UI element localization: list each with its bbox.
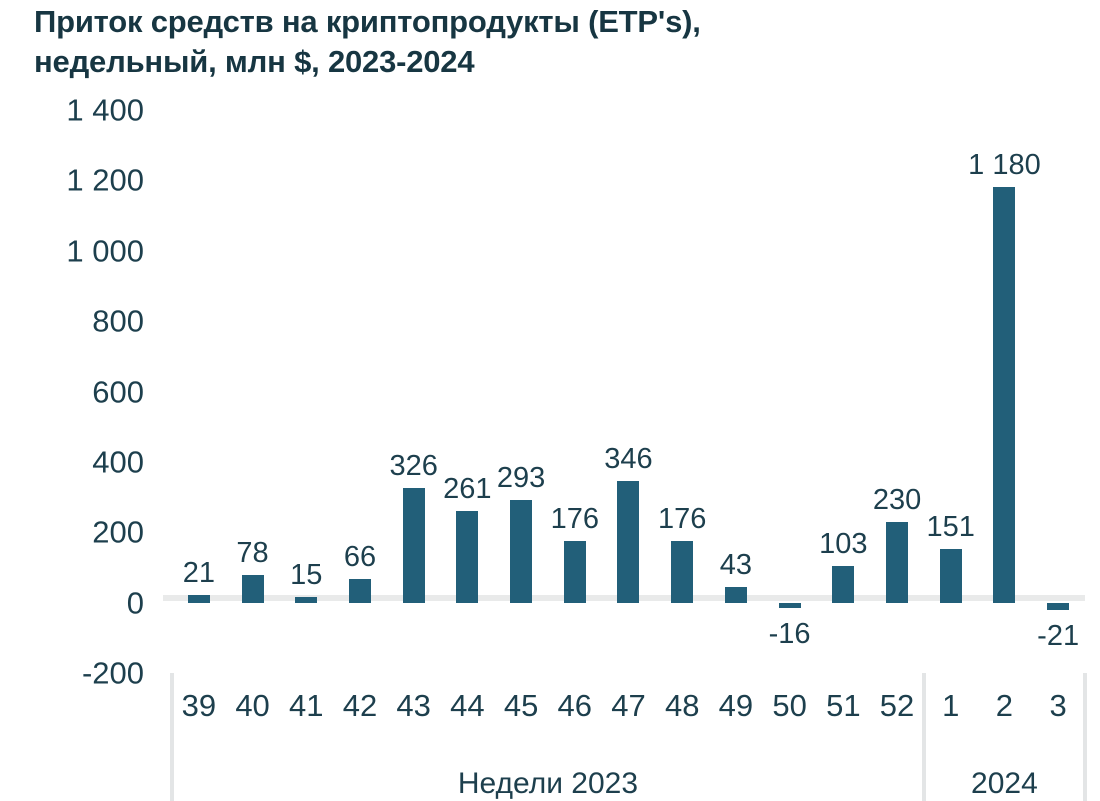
x-axis-tick-label: 48 (655, 690, 709, 721)
bar-value-label: 21 (183, 559, 215, 588)
x-axis-tick-label: 49 (709, 690, 763, 721)
y-axis-tick-label: 1 200 (66, 165, 144, 196)
bar-group: 261 (441, 110, 495, 673)
bar[interactable] (1047, 603, 1069, 610)
bar-group: 103 (816, 110, 870, 673)
x-axis-tick-label: 41 (279, 690, 333, 721)
bar[interactable] (617, 481, 639, 603)
bar-group: 15 (279, 110, 333, 673)
bar-group: 326 (387, 110, 441, 673)
bar-value-label: 176 (551, 505, 599, 534)
bar[interactable] (456, 511, 478, 603)
x-axis-tick-label: 3 (1031, 690, 1085, 721)
bar[interactable] (725, 587, 747, 602)
x-axis-tick-label: 50 (763, 690, 817, 721)
bar[interactable] (510, 500, 532, 603)
x-axis-tick-label: 1 (924, 690, 978, 721)
bar-group: 151 (924, 110, 978, 673)
bar[interactable] (349, 579, 371, 602)
bar-value-label: 230 (873, 486, 921, 515)
x-axis-tick-label: 45 (494, 690, 548, 721)
bar-group: 43 (709, 110, 763, 673)
bar[interactable] (993, 187, 1015, 602)
bar[interactable] (832, 566, 854, 602)
bars-layer: 2178156632626129317634617643-16103230151… (172, 110, 1085, 673)
x-axis-tick-label: 52 (870, 690, 924, 721)
y-axis-tick-label: 0 (127, 587, 144, 618)
bar-group: 176 (655, 110, 709, 673)
bar[interactable] (403, 488, 425, 603)
bar[interactable] (940, 549, 962, 602)
x-axis-group-label: Недели 2023 (172, 769, 924, 799)
bar-group: 78 (226, 110, 280, 673)
bar-value-label: 1 180 (968, 151, 1041, 180)
y-axis-tick-label: 600 (92, 376, 144, 407)
x-axis-tick-label: 51 (816, 690, 870, 721)
y-axis-tick-label: 800 (92, 306, 144, 337)
plot-area: 2178156632626129317634617643-16103230151… (172, 110, 1085, 673)
y-axis: 1 4001 2001 0008006004002000-200 (0, 110, 158, 673)
x-axis-tick-label: 47 (602, 690, 656, 721)
y-axis-tick-label: -200 (82, 658, 144, 689)
x-axis-group-separator (170, 673, 174, 801)
bar-group: -21 (1031, 110, 1085, 673)
bar-value-label: 15 (290, 561, 322, 590)
bar-value-label: 176 (658, 505, 706, 534)
bar[interactable] (886, 522, 908, 603)
x-axis-tick-label: 44 (441, 690, 495, 721)
bar[interactable] (295, 597, 317, 602)
y-axis-tick-label: 1 000 (66, 235, 144, 266)
chart-title: Приток средств на криптопродукты (ETP's)… (34, 2, 1074, 81)
bar-value-label: 103 (819, 530, 867, 559)
x-axis: 3940414243444546474849505152123Недели 20… (172, 673, 1085, 801)
bar-value-label: -16 (769, 620, 811, 649)
x-axis-tick-label: 43 (387, 690, 441, 721)
bar-group: -16 (763, 110, 817, 673)
bar[interactable] (671, 541, 693, 603)
bar-value-label: 346 (604, 445, 652, 474)
bar-value-label: -21 (1037, 622, 1079, 651)
x-axis-tick-label: 39 (172, 690, 226, 721)
bar-group: 1 180 (978, 110, 1032, 673)
x-axis-tick-label: 2 (978, 690, 1032, 721)
bar-group: 21 (172, 110, 226, 673)
chart-root: Приток средств на криптопродукты (ETP's)… (0, 0, 1100, 801)
x-axis-group-label: 2024 (924, 769, 1085, 799)
x-axis-tick-label: 42 (333, 690, 387, 721)
x-axis-group-separator (1083, 673, 1087, 801)
bar-value-label: 43 (720, 551, 752, 580)
x-axis-tick-label: 46 (548, 690, 602, 721)
bar-group: 346 (602, 110, 656, 673)
bar-group: 176 (548, 110, 602, 673)
bar-value-label: 293 (497, 464, 545, 493)
bar[interactable] (242, 575, 264, 602)
y-axis-tick-label: 400 (92, 446, 144, 477)
bar-value-label: 326 (389, 452, 437, 481)
bar-value-label: 66 (344, 543, 376, 572)
bar[interactable] (564, 541, 586, 603)
bar[interactable] (188, 595, 210, 602)
bar-value-label: 151 (927, 513, 975, 542)
y-axis-tick-label: 1 400 (66, 95, 144, 126)
bar-group: 293 (494, 110, 548, 673)
y-axis-tick-label: 200 (92, 517, 144, 548)
x-axis-tick-label: 40 (226, 690, 280, 721)
x-axis-group-separator (922, 673, 926, 801)
bar[interactable] (779, 603, 801, 609)
bar-group: 66 (333, 110, 387, 673)
bar-value-label: 261 (443, 475, 491, 504)
bar-value-label: 78 (236, 539, 268, 568)
bar-group: 230 (870, 110, 924, 673)
